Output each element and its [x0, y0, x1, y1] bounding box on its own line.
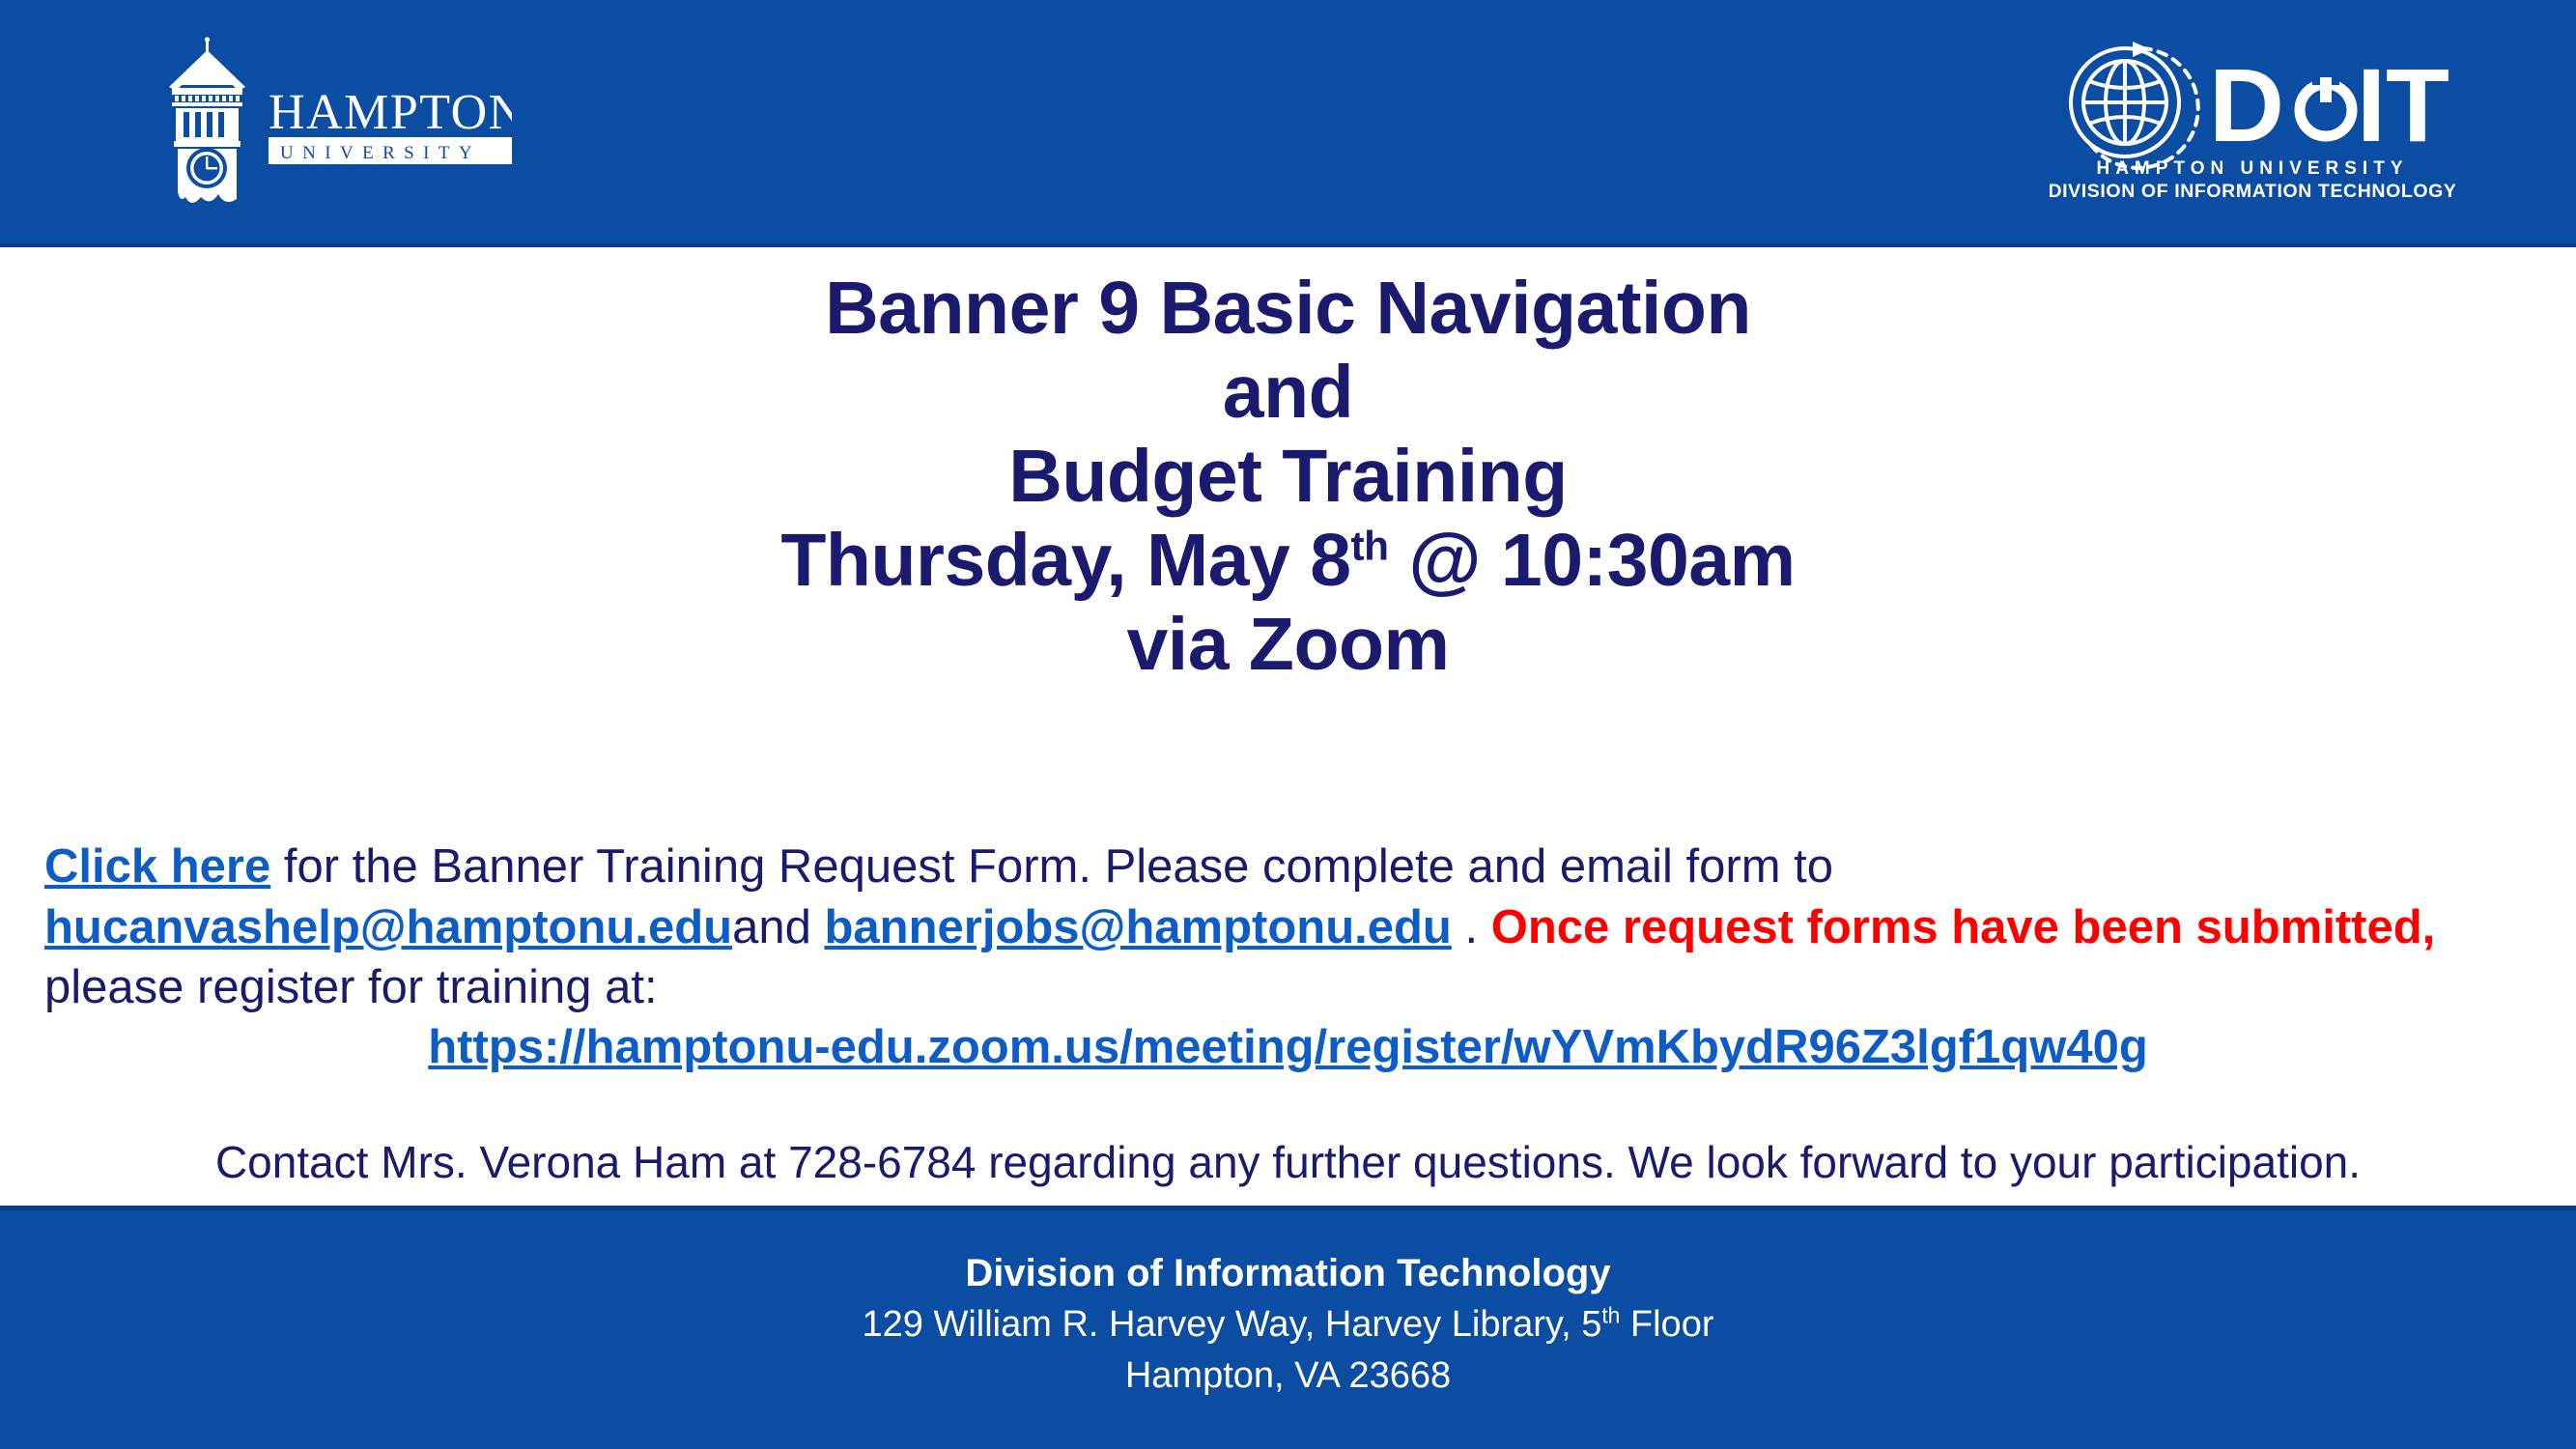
instructions-separator: .: [1452, 901, 1491, 953]
doit-logo: D IT HAMPTON UNIVERSITY DIVISION OF INFO…: [2050, 27, 2455, 220]
headline-line-2: and: [0, 351, 2576, 435]
footer-band: Division of Information Technology 129 W…: [0, 1206, 2576, 1449]
email-link-bannerjobs[interactable]: bannerjobs@hamptonu.edu: [824, 901, 1451, 953]
instructions-block: Click here for the Banner Training Reque…: [0, 837, 2576, 1018]
headline-line-5: via Zoom: [0, 603, 2576, 687]
header-band: HAMPTON UNIVERSITY: [0, 0, 2576, 247]
headline-line-3: Budget Training: [0, 435, 2576, 519]
instructions-text-middle: for the Banner Training Request Form. Pl…: [270, 840, 1833, 893]
headline-date-prefix: Thursday, May 8: [780, 519, 1350, 602]
headline-date-suffix: @ 10:30am: [1389, 519, 1796, 602]
main-content: Banner 9 Basic Navigation and Budget Tra…: [0, 247, 2576, 1206]
zoom-registration-link[interactable]: https://hamptonu-edu.zoom.us/meeting/reg…: [428, 1021, 2148, 1073]
doit-letters-it: IT: [2357, 46, 2449, 163]
contact-line: Contact Mrs. Verona Ham at 728-6784 rega…: [0, 1136, 2576, 1188]
red-emphasis-text: Once request forms have been submitted,: [1491, 901, 2436, 953]
page-title: Banner 9 Basic Navigation and Budget Tra…: [0, 267, 2576, 687]
svg-text:HAMPTON: HAMPTON: [269, 85, 512, 140]
footer-address-prefix: 129 William R. Harvey Way, Harvey Librar…: [863, 1304, 1602, 1345]
instructions-and: and: [732, 901, 824, 953]
instructions-text-tail: please register for training at:: [44, 961, 658, 1013]
doit-letter-d: D: [2209, 46, 2284, 163]
power-symbol-icon: [2300, 71, 2352, 136]
footer-address-suffix: Floor: [1620, 1304, 1713, 1345]
doit-sub-line2: DIVISION OF INFORMATION TECHNOLOGY: [2050, 181, 2455, 202]
footer-street-address: 129 William R. Harvey Way, Harvey Librar…: [0, 1299, 2576, 1350]
email-link-hucanvashelp[interactable]: hucanvashelp@hamptonu.edu: [44, 901, 732, 953]
instructions-paragraph: Click here for the Banner Training Reque…: [44, 837, 2532, 1018]
click-here-link[interactable]: Click here: [44, 840, 270, 893]
globe-icon: [2071, 42, 2198, 168]
headline-line-4: Thursday, May 8th @ 10:30am: [0, 519, 2576, 603]
footer-city-state-zip: Hampton, VA 23668: [0, 1350, 2576, 1402]
footer-address-ordinal: th: [1601, 1302, 1620, 1327]
headline-date-ordinal: th: [1351, 523, 1389, 568]
headline-line-1: Banner 9 Basic Navigation: [0, 267, 2576, 351]
svg-text:UNIVERSITY: UNIVERSITY: [280, 143, 481, 163]
hampton-university-logo: HAMPTON UNIVERSITY: [145, 37, 512, 211]
doit-sub-line1: HAMPTON UNIVERSITY: [2096, 158, 2408, 179]
footer-department-title: Division of Information Technology: [0, 1247, 2576, 1299]
flyer-page: HAMPTON UNIVERSITY: [0, 0, 2576, 1449]
registration-url-line: https://hamptonu-edu.zoom.us/meeting/reg…: [0, 1020, 2576, 1074]
